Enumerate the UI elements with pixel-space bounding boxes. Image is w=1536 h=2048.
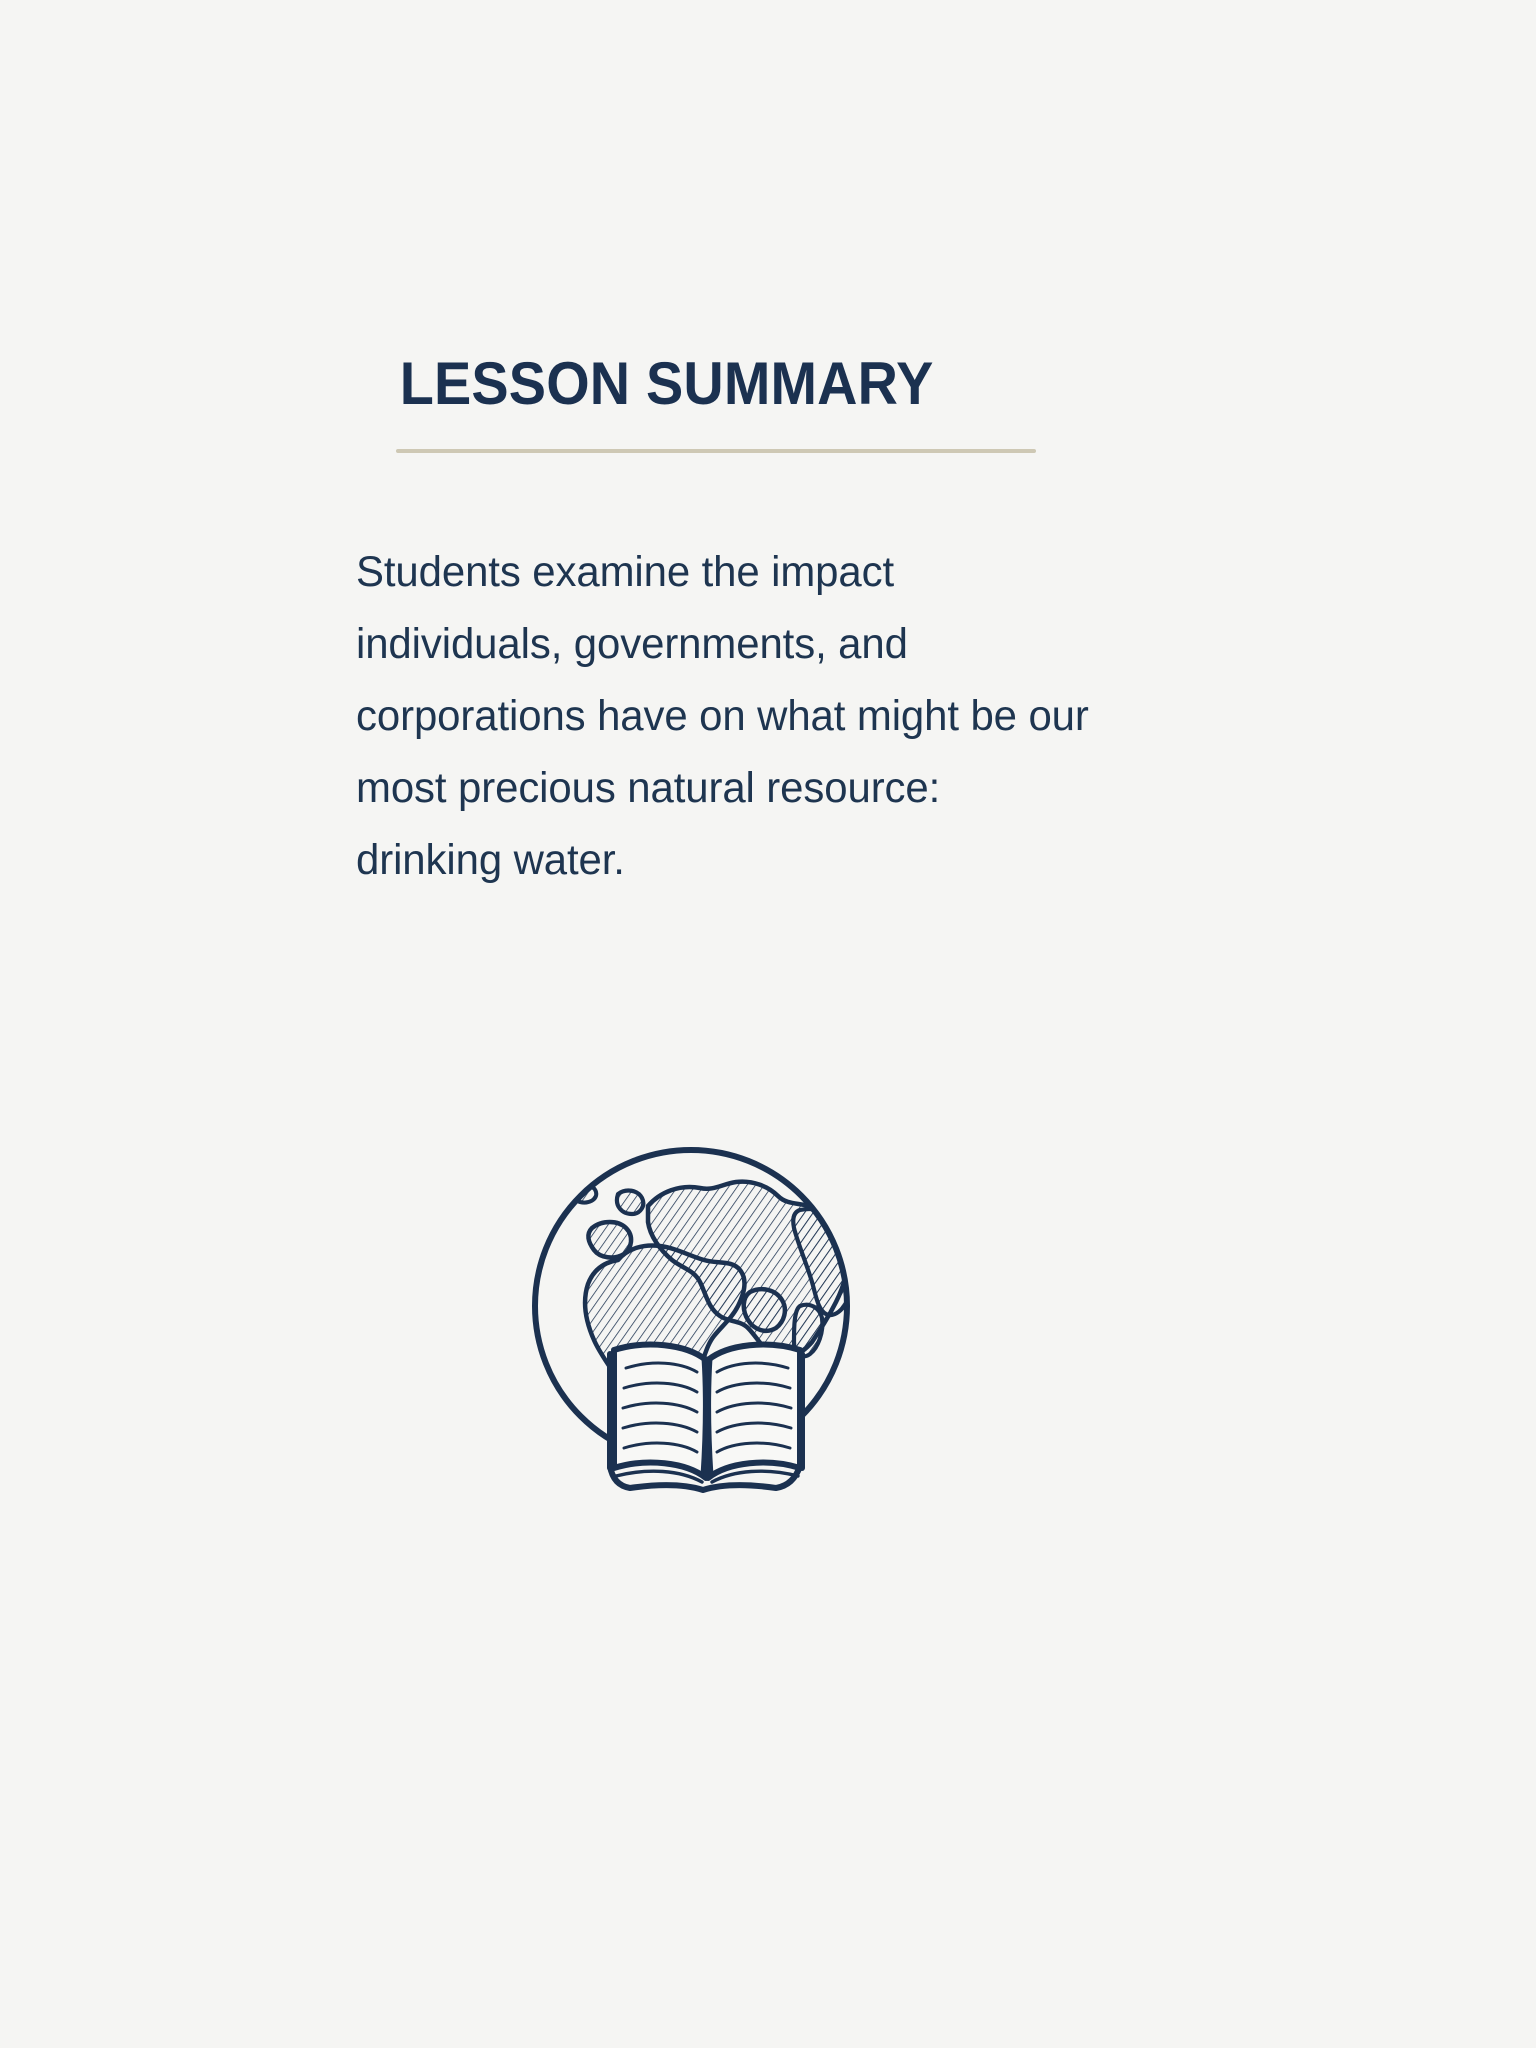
title-divider-rule bbox=[396, 449, 1036, 453]
header-block: LESSON SUMMARY bbox=[396, 352, 1096, 415]
page-title: LESSON SUMMARY bbox=[396, 352, 1047, 415]
globe-with-open-book-illustration bbox=[500, 1110, 880, 1500]
lesson-summary-page: LESSON SUMMARY Students examine the impa… bbox=[0, 0, 1536, 2048]
globe-with-open-book-icon bbox=[500, 1110, 880, 1500]
open-book bbox=[610, 1345, 802, 1490]
lesson-summary-text: Students examine the impact individuals,… bbox=[356, 536, 1097, 896]
